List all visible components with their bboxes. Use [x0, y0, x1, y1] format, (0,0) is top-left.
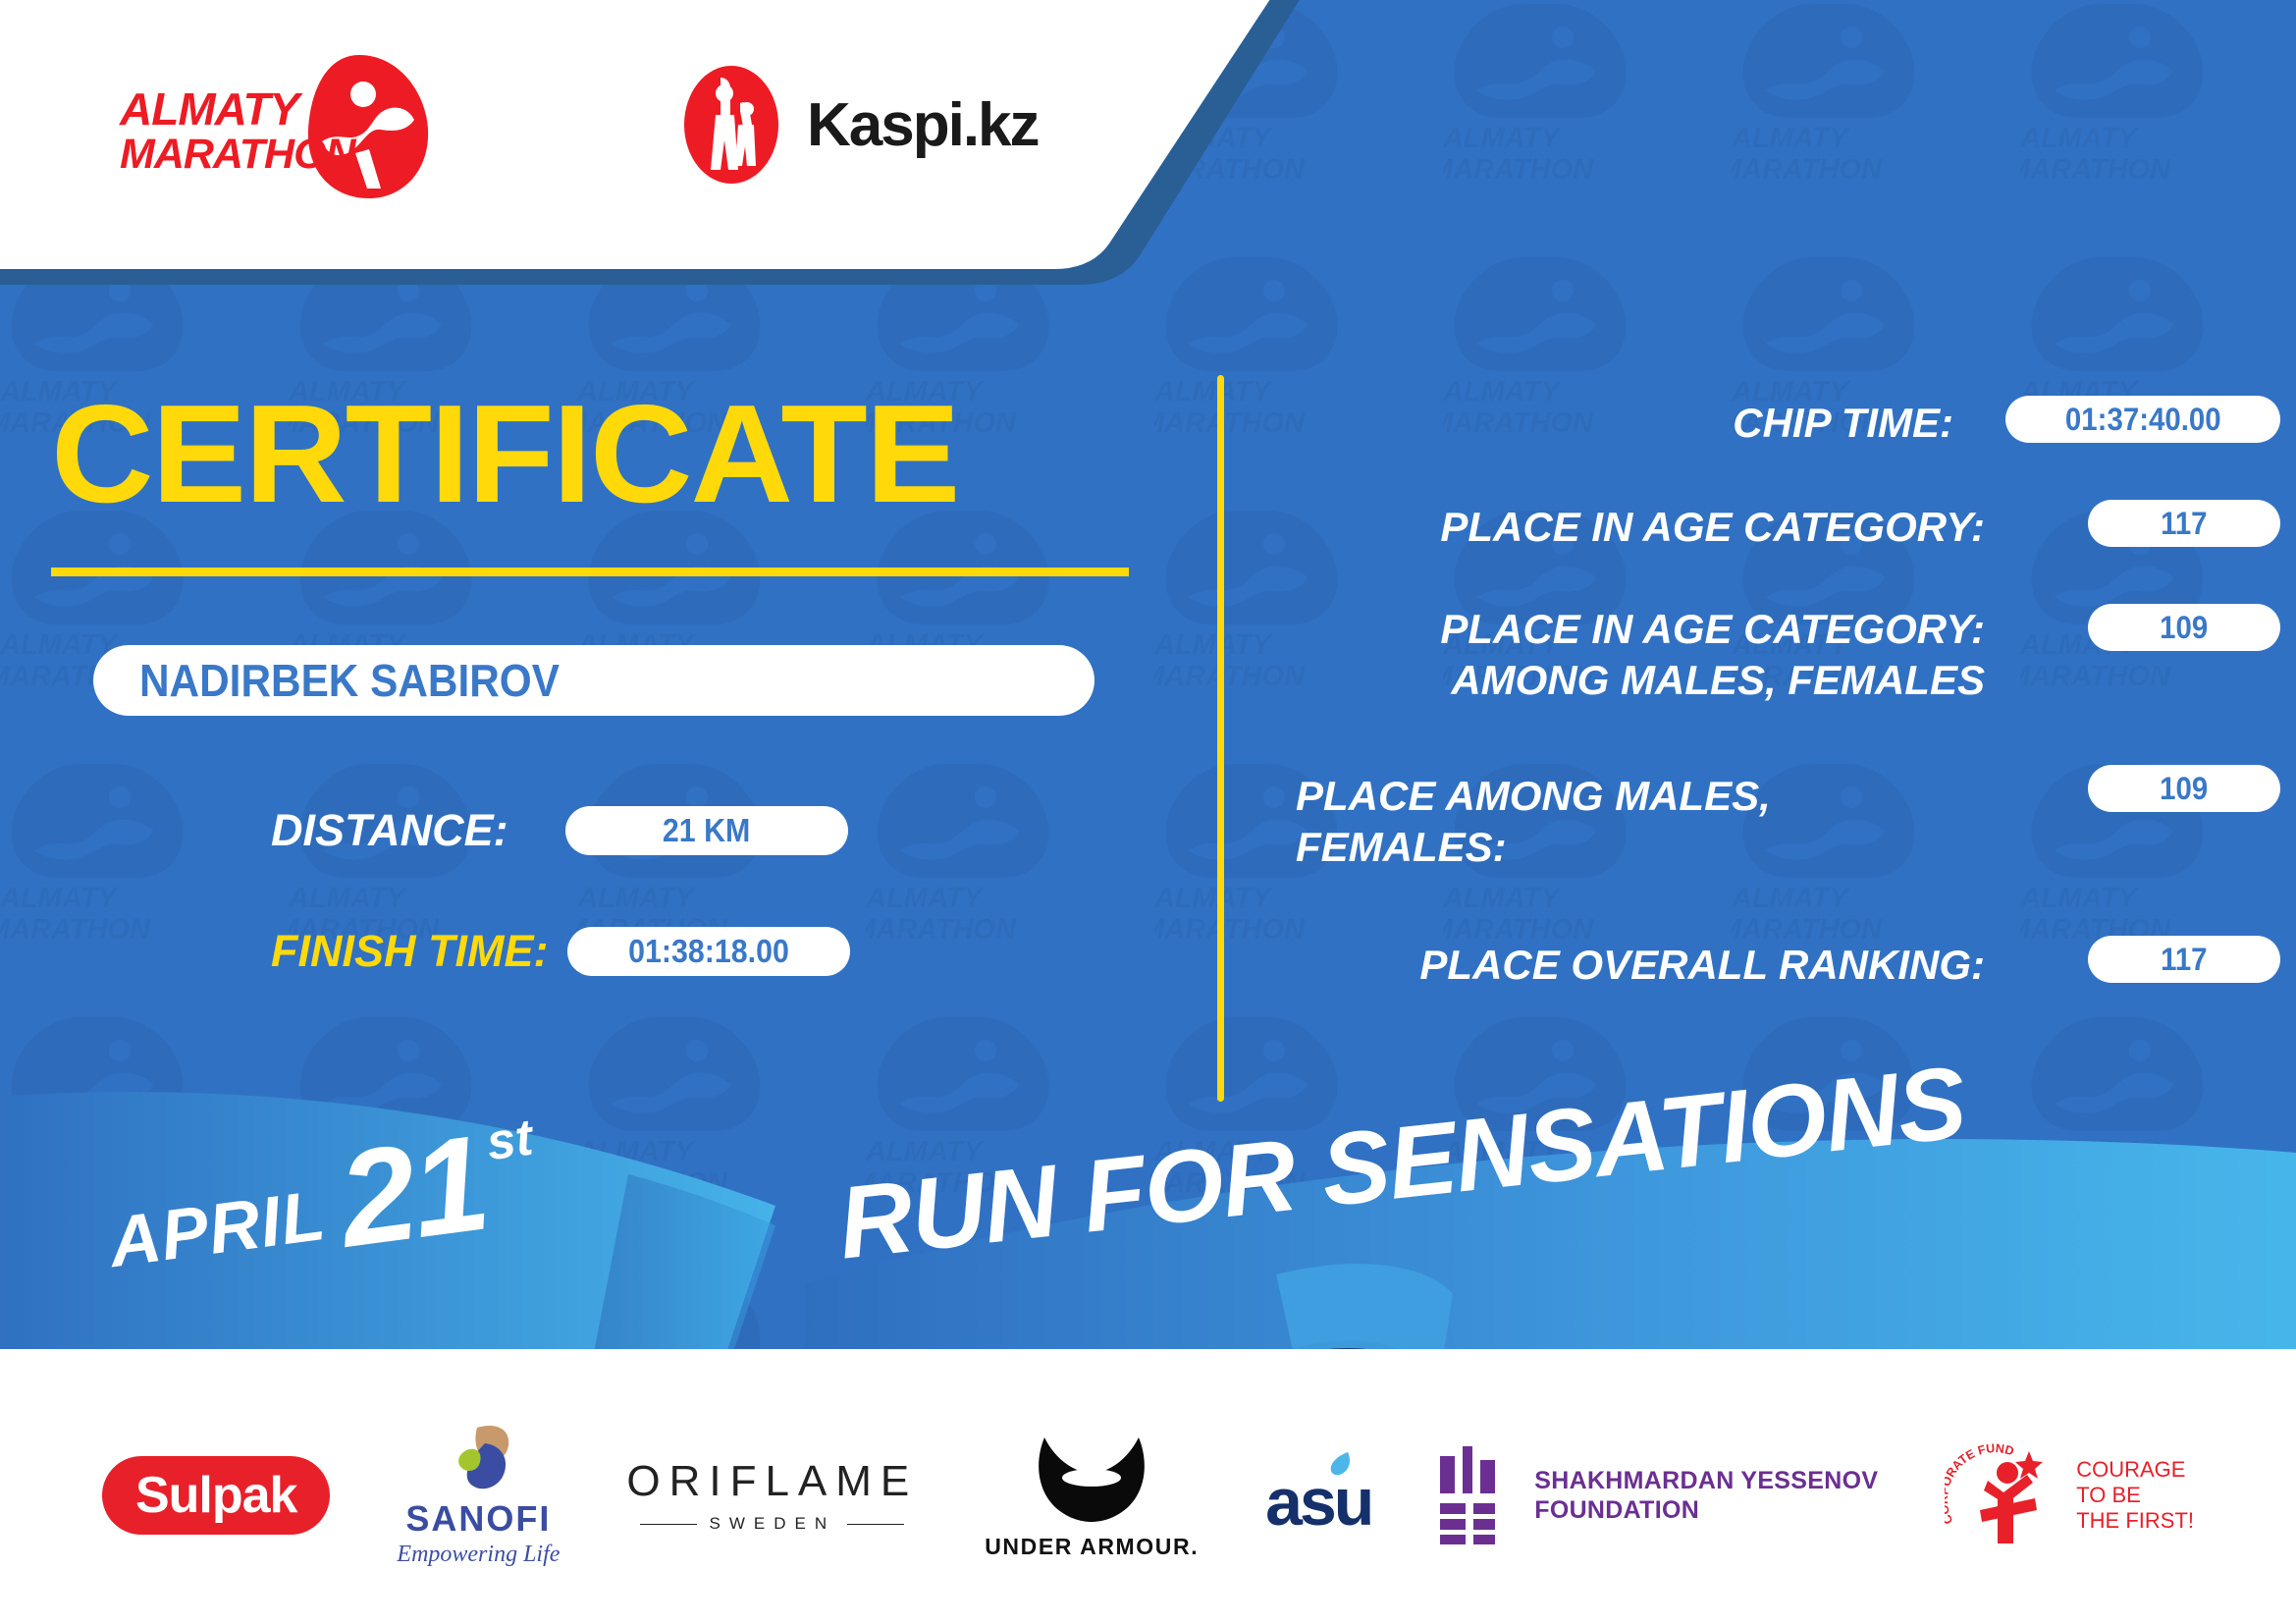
sponsor-asu: asu — [1265, 1450, 1371, 1541]
stat-value: 117 — [2161, 942, 2207, 978]
certificate-canvas: ALMATY MARATHON ALMATY MARATHON — [0, 0, 2296, 1624]
distance-label: DISTANCE: — [271, 805, 508, 856]
corporate-fund-line3: THE FIRST! — [2076, 1508, 2194, 1534]
sponsor-under-armour: UNDER ARMOUR. — [985, 1432, 1199, 1560]
distance-value-pill: 21 KM — [565, 806, 848, 855]
kaspi-mark-icon — [677, 64, 785, 186]
stats-panel: CHIP TIME: 01:37:40.00 PLACE IN AGE CATE… — [1296, 378, 2209, 1036]
title-divider — [51, 568, 1129, 576]
yessenov-mark-icon — [1438, 1446, 1509, 1544]
stat-label: CHIP TIME: — [1404, 398, 1953, 449]
participant-name-value: NADIRBEK SABIROV — [139, 654, 560, 707]
participant-name-field: NADIRBEK SABIROV — [93, 645, 1095, 716]
stat-value-pill: 109 — [2088, 604, 2280, 651]
sanofi-tagline: Empowering Life — [397, 1542, 560, 1568]
sulpak-logo: Sulpak — [102, 1456, 331, 1535]
stat-value: 109 — [2160, 610, 2208, 646]
sanofi-wordmark: SANOFI — [405, 1498, 551, 1540]
marathon-logo-line2: MARATHON — [120, 132, 385, 177]
stat-value-pill: 117 — [2088, 936, 2280, 983]
stat-label: PLACE OVERALL RANKING: — [1239, 940, 1985, 991]
stat-value: 01:37:40.00 — [2065, 402, 2221, 438]
sponsor-strip: Sulpak SANOFI Empowering Life ORIFLAME S… — [0, 1367, 2296, 1624]
header-logos: ALMATY MARATHON Kaspi.kz — [0, 0, 1178, 287]
marathon-logo-line1: ALMATY — [120, 86, 385, 132]
finish-time-value-pill: 01:38:18.00 — [567, 927, 850, 976]
corporate-fund-wordmark: COURAGE TO BE THE FIRST! — [2076, 1457, 2194, 1534]
under-armour-wordmark: UNDER ARMOUR. — [985, 1534, 1199, 1560]
stat-row: PLACE OVERALL RANKING: 117 — [1296, 928, 2209, 1036]
corporate-fund-line1: COURAGE — [2076, 1457, 2194, 1483]
distance-row: DISTANCE: 21 KM — [271, 805, 848, 856]
kaspi-wordmark: Kaspi.kz — [807, 90, 1039, 160]
corporate-fund-line2: TO BE — [2076, 1483, 2194, 1508]
stat-row: CHIP TIME: 01:37:40.00 — [1296, 378, 2209, 486]
sponsor-oriflame: ORIFLAME SWEDEN — [626, 1457, 918, 1534]
vertical-divider — [1217, 375, 1224, 1102]
oriflame-tagline: SWEDEN — [709, 1514, 835, 1534]
stat-label: PLACE IN AGE CATEGORY: — [1298, 502, 1985, 553]
event-day: 21 — [334, 1125, 493, 1259]
almaty-marathon-logo: ALMATY MARATHON — [120, 51, 444, 208]
yessenov-line1: SHAKHMARDAN YESSENOV — [1534, 1466, 1878, 1495]
corporate-fund-icon: CORPORATE FUND — [1945, 1441, 2062, 1549]
sponsor-sulpak: Sulpak — [102, 1456, 331, 1535]
sponsor-yessenov-foundation: SHAKHMARDAN YESSENOV FOUNDATION — [1438, 1446, 1878, 1544]
finish-time-label: FINISH TIME: — [271, 926, 548, 977]
stat-value-pill: 109 — [2088, 765, 2280, 812]
stat-value-pill: 117 — [2088, 500, 2280, 547]
stat-row: PLACE IN AGE CATEGORY: 117 — [1296, 486, 2209, 594]
finish-time-row: FINISH TIME: 01:38:18.00 — [271, 926, 850, 977]
sponsor-sanofi: SANOFI Empowering Life — [397, 1424, 560, 1568]
stat-label: PLACE AMONG MALES,FEMALES: — [1296, 771, 1983, 873]
almaty-marathon-wordmark: ALMATY MARATHON — [120, 86, 385, 177]
oriflame-wordmark: ORIFLAME — [626, 1457, 918, 1506]
asu-wordmark: asu — [1265, 1464, 1371, 1541]
oriflame-rule-left — [640, 1524, 697, 1525]
stat-row: PLACE IN AGE CATEGORY:AMONG MALES, FEMAL… — [1296, 594, 2209, 761]
sponsor-corporate-fund: CORPORATE FUND COURAGE TO BE THE FIRST! — [1945, 1441, 2194, 1549]
certificate-title: CERTIFICATE — [51, 385, 958, 524]
yessenov-line2: FOUNDATION — [1534, 1495, 1878, 1525]
stat-value: 117 — [2161, 506, 2207, 542]
oriflame-tagline-row: SWEDEN — [640, 1514, 904, 1534]
oriflame-rule-right — [847, 1524, 904, 1525]
under-armour-icon — [1023, 1432, 1160, 1526]
finish-time-value: 01:38:18.00 — [629, 933, 790, 970]
sanofi-mark-icon — [434, 1424, 522, 1494]
distance-value: 21 KM — [663, 812, 750, 849]
kaspi-logo: Kaspi.kz — [677, 61, 1039, 189]
stat-row: PLACE AMONG MALES,FEMALES: 109 — [1296, 761, 2209, 928]
stat-value: 109 — [2160, 771, 2208, 807]
sulpak-wordmark: Sulpak — [135, 1467, 297, 1524]
stat-value-pill: 01:37:40.00 — [2005, 396, 2280, 443]
stat-label: PLACE IN AGE CATEGORY:AMONG MALES, FEMAL… — [1298, 604, 1985, 706]
yessenov-wordmark: SHAKHMARDAN YESSENOV FOUNDATION — [1534, 1466, 1878, 1525]
